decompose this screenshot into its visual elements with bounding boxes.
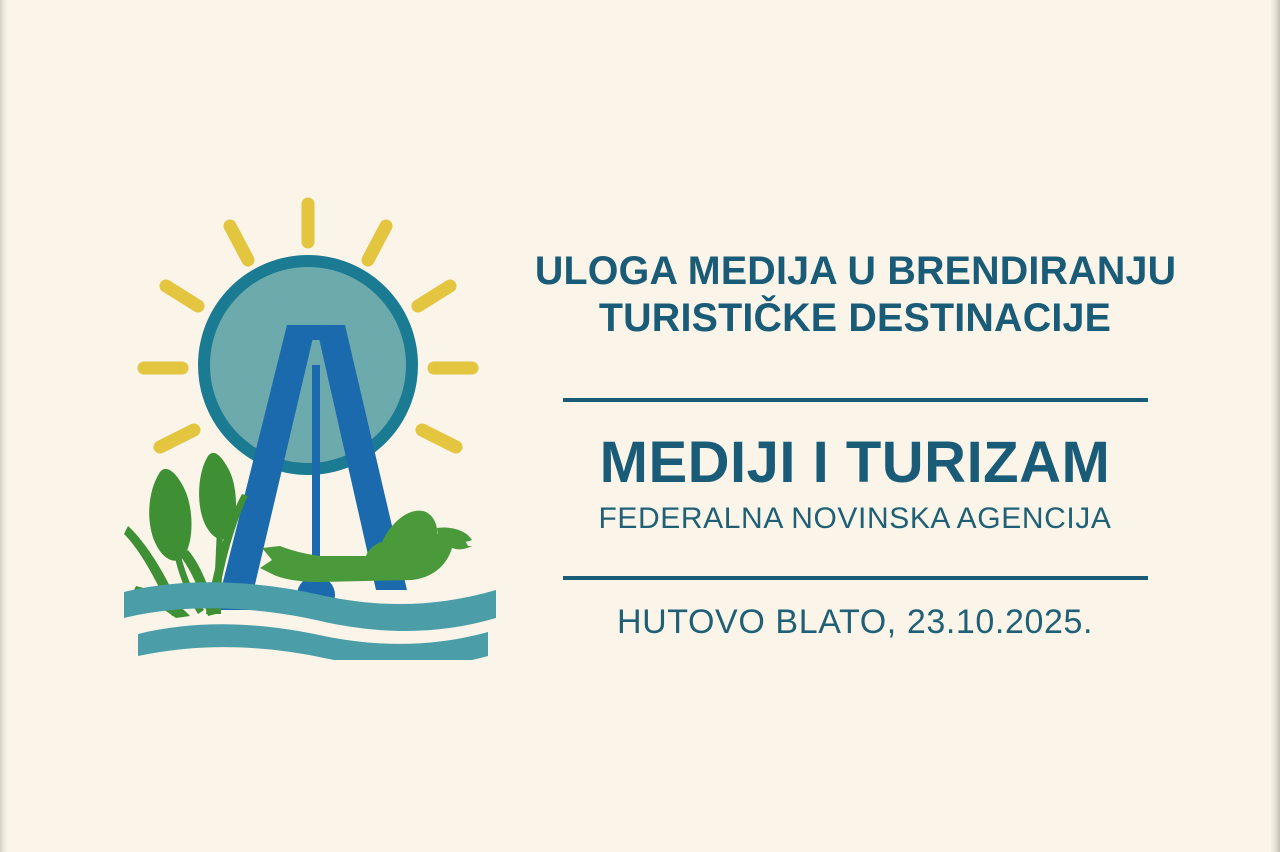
headline-line-1: ULOGA MEDIJA U BRENDIRANJU bbox=[535, 248, 1175, 295]
scan-edge-left bbox=[0, 0, 7, 852]
poster-canvas: ULOGA MEDIJA U BRENDIRANJU TURISTIČKE DE… bbox=[0, 0, 1280, 852]
scan-edge-right bbox=[1271, 0, 1280, 852]
divider-top bbox=[563, 398, 1148, 402]
plumb-line-icon bbox=[312, 365, 320, 583]
place-and-date: HUTOVO BLATO, 23.10.2025. bbox=[530, 602, 1180, 642]
sun-disc-icon bbox=[198, 255, 418, 475]
headline-line-2: TURISTIČKE DESTINACIJE bbox=[535, 295, 1175, 342]
divider-bottom bbox=[563, 576, 1148, 580]
poster-text-block: ULOGA MEDIJA U BRENDIRANJU TURISTIČKE DE… bbox=[530, 248, 1180, 642]
page-title: ULOGA MEDIJA U BRENDIRANJU TURISTIČKE DE… bbox=[530, 248, 1180, 342]
water-waves-icon bbox=[124, 582, 496, 660]
event-logo bbox=[120, 190, 500, 660]
brand-subtitle: FEDERALNA NOVINSKA AGENCIJA bbox=[530, 502, 1180, 536]
brand-name: MEDIJI I TURIZAM bbox=[530, 432, 1180, 494]
